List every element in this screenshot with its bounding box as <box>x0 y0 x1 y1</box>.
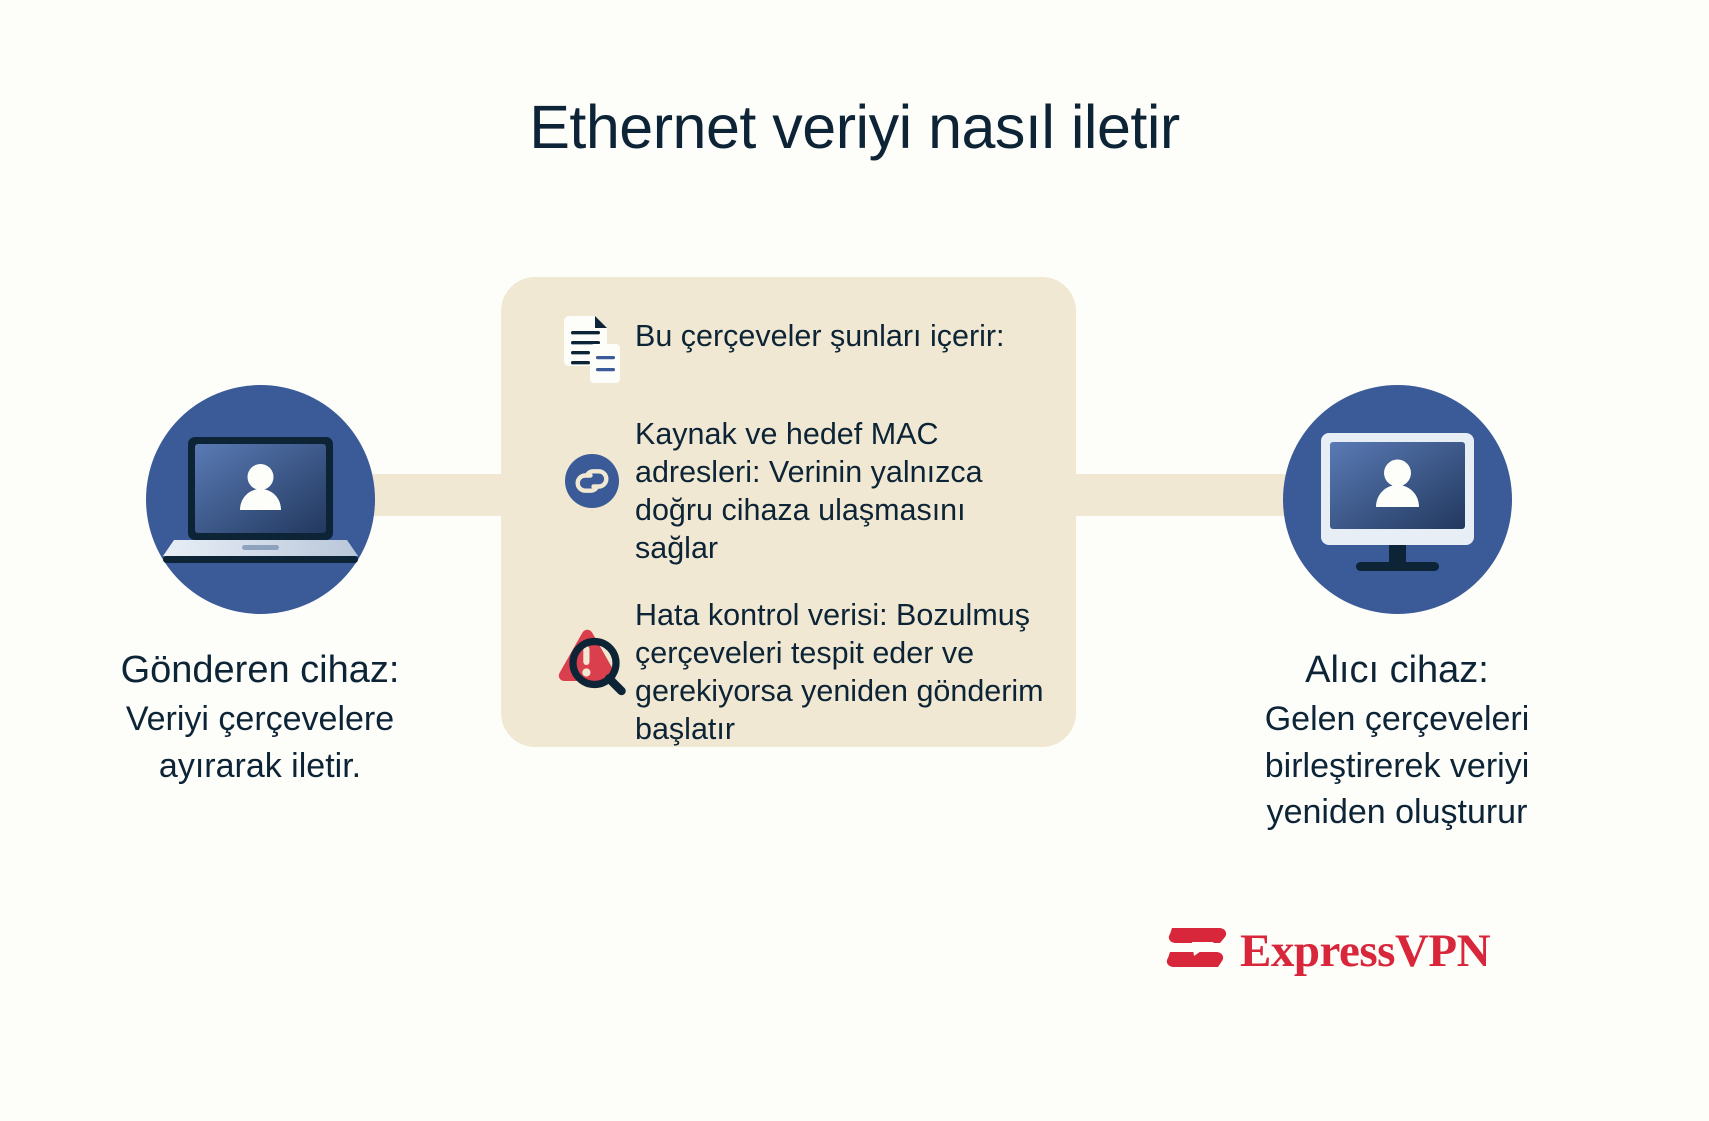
receiver-device-circle <box>1283 385 1512 614</box>
sender-device-caption: Gönderen cihaz: Veriyi çerçevelere ayıra… <box>45 646 475 788</box>
error-warning-magnifier-icon <box>549 594 635 700</box>
receiver-caption-line2: birleştirerek veriyi <box>1182 744 1612 788</box>
receiver-device-group: Alıcı cihaz: Gelen çerçeveleri birleştir… <box>1182 385 1612 834</box>
sender-caption-line1: Veriyi çerçevelere <box>45 697 475 741</box>
sender-device-group: Gönderen cihaz: Veriyi çerçevelere ayıra… <box>45 385 475 788</box>
card-bullet-error: Hata kontrol verisi: Bozulmuş çerçeveler… <box>549 594 1050 749</box>
card-bullet-mac: Kaynak ve hedef MAC adresleri: Verinin y… <box>549 413 1050 568</box>
monitor-user-icon <box>1283 385 1512 614</box>
card-bullet-error-text: Hata kontrol verisi: Bozulmuş çerçeveler… <box>635 594 1050 749</box>
card-bullet-mac-text: Kaynak ve hedef MAC adresleri: Verinin y… <box>635 413 1050 568</box>
receiver-caption-line3: yeniden oluşturur <box>1182 790 1612 834</box>
document-pages-icon <box>549 315 635 387</box>
laptop-user-icon <box>146 385 375 614</box>
receiver-caption-line1: Gelen çerçeveleri <box>1182 697 1612 741</box>
expressvpn-logo: ExpressVPN <box>1162 921 1490 982</box>
sender-device-circle <box>146 385 375 614</box>
expressvpn-mark-icon <box>1162 921 1230 982</box>
page-title: Ethernet veriyi nasıl iletir <box>0 92 1709 162</box>
sender-caption-line2: ayırarak iletir. <box>45 744 475 788</box>
receiver-caption-title: Alıcı cihaz: <box>1182 646 1612 695</box>
frame-contents-card: Bu çerçeveler şunları içerir: Kaynak ve … <box>501 277 1076 747</box>
sender-caption-title: Gönderen cihaz: <box>45 646 475 695</box>
receiver-device-caption: Alıcı cihaz: Gelen çerçeveleri birleştir… <box>1182 646 1612 834</box>
card-bullet-frames: Bu çerçeveler şunları içerir: <box>549 315 1050 387</box>
card-bullet-frames-text: Bu çerçeveler şunları içerir: <box>635 315 1005 355</box>
chain-link-icon <box>549 413 635 509</box>
expressvpn-wordmark: ExpressVPN <box>1240 928 1490 975</box>
